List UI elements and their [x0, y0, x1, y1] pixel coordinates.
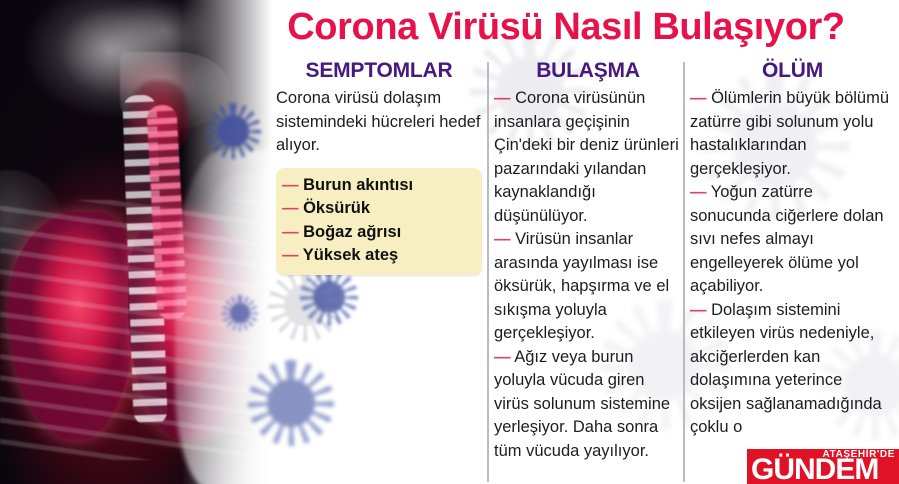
paragraph-text: Yoğun zatürre sonucunda ciğerlere dolan …	[690, 183, 884, 295]
body-paragraph: — Ağız veya burun yoluyla vücuda giren v…	[494, 346, 682, 464]
image-edge-fade	[182, 0, 272, 484]
intro-paragraph: Corona virüsü dolaşım sistemindeki hücre…	[276, 87, 482, 158]
gundem-logo[interactable]: ATAŞEHİR'DE GÜNDEM	[747, 449, 899, 484]
symptom-list-item: — Boğaz ağrısı	[282, 221, 474, 245]
dash-marker: —	[690, 301, 707, 319]
column-semptomlar: SEMPTOMLAR Corona virüsü dolaşım sistemi…	[276, 58, 482, 484]
dash-marker: —	[282, 176, 299, 194]
dash-marker: —	[494, 230, 511, 248]
dash-marker: —	[494, 348, 511, 366]
paragraph-text: Corona virüsünün insanlara geçişinin Çin…	[494, 89, 679, 225]
column-bulasma: BULAŞMA — Corona virüsünün insanlara geç…	[494, 58, 682, 484]
logo-name-text: GÜNDEM	[751, 455, 878, 484]
column-body: Corona virüsü dolaşım sistemindeki hücre…	[276, 87, 482, 158]
dash-marker: —	[282, 199, 299, 217]
symptom-label: Öksürük	[303, 199, 370, 217]
symptom-list-box: — Burun akıntısı — Öksürük — Boğaz ağrıs…	[276, 168, 482, 275]
dash-marker: —	[494, 89, 511, 107]
column-divider	[683, 62, 685, 482]
dash-marker: —	[690, 183, 707, 201]
symptom-label: Boğaz ağrısı	[303, 223, 401, 241]
paragraph-text: Virüsün insanlar arasında yayılması ise …	[494, 230, 669, 342]
anatomy-illustration	[0, 0, 272, 484]
dash-marker: —	[690, 89, 707, 107]
symptom-label: Yüksek ateş	[303, 246, 398, 264]
dash-marker: —	[282, 223, 299, 241]
column-body: — Corona virüsünün insanlara geçişinin Ç…	[494, 87, 682, 463]
column-divider	[487, 62, 489, 482]
body-paragraph: — Virüsün insanlar arasında yayılması is…	[494, 228, 682, 346]
dash-marker: —	[282, 246, 299, 264]
paragraph-text: Ağız veya burun yoluyla vücuda giren vir…	[494, 348, 670, 460]
column-heading: BULAŞMA	[494, 58, 682, 84]
symptom-list-item: — Yüksek ateş	[282, 244, 474, 268]
column-olum: ÖLÜM — Ölümlerin büyük bölümü zatürre gi…	[690, 58, 895, 484]
paragraph-text: Ölümlerin büyük bölümü zatürre gibi solu…	[690, 89, 889, 178]
body-paragraph: — Yoğun zatürre sonucunda ciğerlere dola…	[690, 181, 895, 299]
columns-container: SEMPTOMLAR Corona virüsü dolaşım sistemi…	[272, 58, 899, 484]
body-paragraph: — Dolaşım sistemini etkileyen virüs nede…	[690, 299, 895, 440]
paragraph-text: Dolaşım sistemini etkileyen virüs nedeni…	[690, 301, 882, 437]
body-paragraph: — Ölümlerin büyük bölümü zatürre gibi so…	[690, 87, 895, 181]
column-heading: SEMPTOMLAR	[276, 58, 482, 84]
column-heading: ÖLÜM	[690, 58, 895, 84]
page-title: Corona Virüsü Nasıl Bulaşıyor?	[236, 5, 896, 49]
symptom-list-item: — Öksürük	[282, 197, 474, 221]
symptom-list-item: — Burun akıntısı	[282, 174, 474, 198]
body-paragraph: — Corona virüsünün insanlara geçişinin Ç…	[494, 87, 682, 228]
infographic-root: Corona Virüsü Nasıl Bulaşıyor? SEMPTOMLA…	[0, 0, 899, 484]
symptom-label: Burun akıntısı	[303, 176, 413, 194]
column-body: — Ölümlerin büyük bölümü zatürre gibi so…	[690, 87, 895, 440]
